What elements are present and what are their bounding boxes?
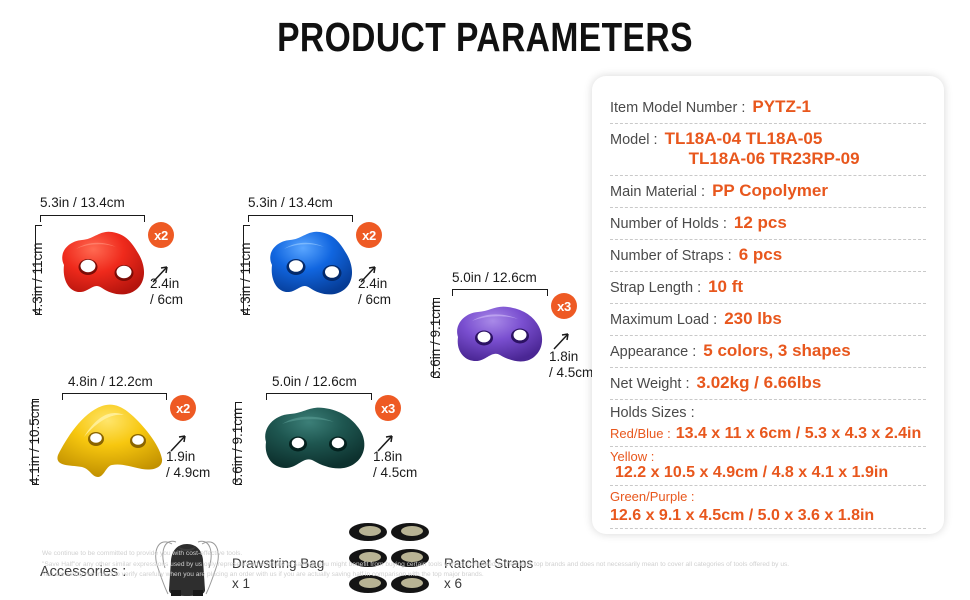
spec-row-maximum-load: Maximum Load : 230 lbs: [610, 304, 926, 336]
size-key: Green/Purple :: [610, 489, 695, 504]
red-hold-image: [46, 221, 156, 316]
spec-value: 12 pcs: [734, 213, 787, 233]
red-hold-depth-label: 2.4in / 6cm: [150, 276, 183, 307]
spec-label: Item Model Number :: [610, 100, 745, 116]
spec-label: Main Material :: [610, 184, 705, 200]
spec-label: Net Weight :: [610, 376, 690, 392]
size-row-green-purple: Green/Purple : 12.6 x 9.1 x 4.5cm / 5.0 …: [610, 486, 926, 529]
blue-hold-image: [254, 221, 364, 316]
model-line-1: TL18A-04 TL18A-05: [665, 129, 860, 149]
yellow-hold-width-label: 4.8in / 12.2cm: [68, 374, 153, 389]
spec-value: PP Copolymer: [712, 181, 828, 201]
green-hold-height-line: [235, 402, 242, 485]
spec-label: Number of Straps :: [610, 248, 732, 264]
blue-hold-width-label: 5.3in / 13.4cm: [248, 195, 333, 210]
spec-value: PYTZ-1: [752, 97, 811, 117]
blue-hold-depth-label: 2.4in / 6cm: [358, 276, 391, 307]
holds-sizes-title: Holds Sizes :: [610, 400, 926, 423]
spec-row-appearance: Appearance : 5 colors, 3 shapes: [610, 336, 926, 368]
spec-value: 6 pcs: [739, 245, 782, 265]
size-key: Yellow :: [610, 449, 654, 464]
spec-label: Model :: [610, 132, 658, 148]
green-hold-image: [256, 398, 374, 484]
spec-model-values: TL18A-04 TL18A-05 TL18A-06 TR23RP-09: [665, 129, 860, 169]
spec-row-number-of-holds: Number of Holds : 12 pcs: [610, 208, 926, 240]
purple-hold-depth-arrow-icon: [551, 329, 573, 351]
size-row-yellow: Yellow : 12.2 x 10.5 x 4.9cm / 4.8 x 4.1…: [610, 447, 926, 486]
spec-label: Maximum Load :: [610, 312, 717, 328]
specifications-panel: Item Model Number : PYTZ-1 Model : TL18A…: [592, 76, 944, 534]
purple-hold-depth-label: 1.8in / 4.5cm: [549, 349, 593, 380]
size-value: 12.2 x 10.5 x 4.9cm / 4.8 x 4.1 x 1.9in: [615, 464, 888, 482]
size-row-red-blue: Red/Blue : 13.4 x 11 x 6cm / 5.3 x 4.3 x…: [610, 423, 926, 447]
disclaimer-line-1: We continue to be committed to provide y…: [42, 549, 942, 560]
spec-row-strap-length: Strap Length : 10 ft: [610, 272, 926, 304]
spec-value: 3.02kg / 6.66lbs: [697, 373, 822, 393]
red-hold-width-label: 5.3in / 13.4cm: [40, 195, 125, 210]
purple-hold-image: [448, 295, 553, 377]
spec-label: Number of Holds :: [610, 216, 727, 232]
disclaimer-text: We continue to be committed to provide y…: [42, 549, 942, 581]
spec-label: Appearance :: [610, 344, 696, 360]
spec-value: 230 lbs: [724, 309, 782, 329]
spec-value: 5 colors, 3 shapes: [703, 341, 850, 361]
yellow-hold-image: [50, 397, 168, 483]
size-value: 13.4 x 11 x 6cm / 5.3 x 4.3 x 2.4in: [676, 425, 922, 443]
spec-row-main-material: Main Material : PP Copolymer: [610, 176, 926, 208]
size-value: 12.6 x 9.1 x 4.5cm / 5.0 x 3.6 x 1.8in: [610, 507, 926, 525]
green-hold-width-label: 5.0in / 12.6cm: [272, 374, 357, 389]
spec-row-item-model-number: Item Model Number : PYTZ-1: [610, 92, 926, 124]
purple-hold-width-label: 5.0in / 12.6cm: [452, 270, 537, 285]
purple-hold-qty-badge: x3: [551, 293, 577, 319]
disclaimer-line-2: "Save Half"or any other similar expressi…: [42, 560, 942, 571]
purple-hold-height-line: [433, 298, 440, 378]
spec-value: 10 ft: [708, 277, 743, 297]
spec-row-net-weight: Net Weight : 3.02kg / 6.66lbs: [610, 368, 926, 400]
size-key: Red/Blue :: [610, 426, 671, 441]
yellow-hold-depth-label: 1.9in / 4.9cm: [166, 449, 210, 480]
yellow-hold-height-line: [32, 399, 39, 485]
spec-row-number-of-straps: Number of Straps : 6 pcs: [610, 240, 926, 272]
spec-row-model: Model : TL18A-04 TL18A-05 TL18A-06 TR23R…: [610, 124, 926, 176]
disclaimer-line-3: You are kindly reminded to verify carefu…: [42, 570, 942, 581]
green-hold-qty-badge: x3: [375, 395, 401, 421]
spec-label: Strap Length :: [610, 280, 701, 296]
blue-hold-qty-badge: x2: [356, 222, 382, 248]
red-hold-qty-badge: x2: [148, 222, 174, 248]
yellow-hold-qty-badge: x2: [170, 395, 196, 421]
model-line-2: TL18A-06 TR23RP-09: [689, 149, 860, 169]
page-title: PRODUCT PARAMETERS: [87, 0, 882, 61]
red-hold-height-line: [35, 225, 42, 315]
blue-hold-height-line: [243, 225, 250, 315]
green-hold-depth-label: 1.8in / 4.5cm: [373, 449, 417, 480]
